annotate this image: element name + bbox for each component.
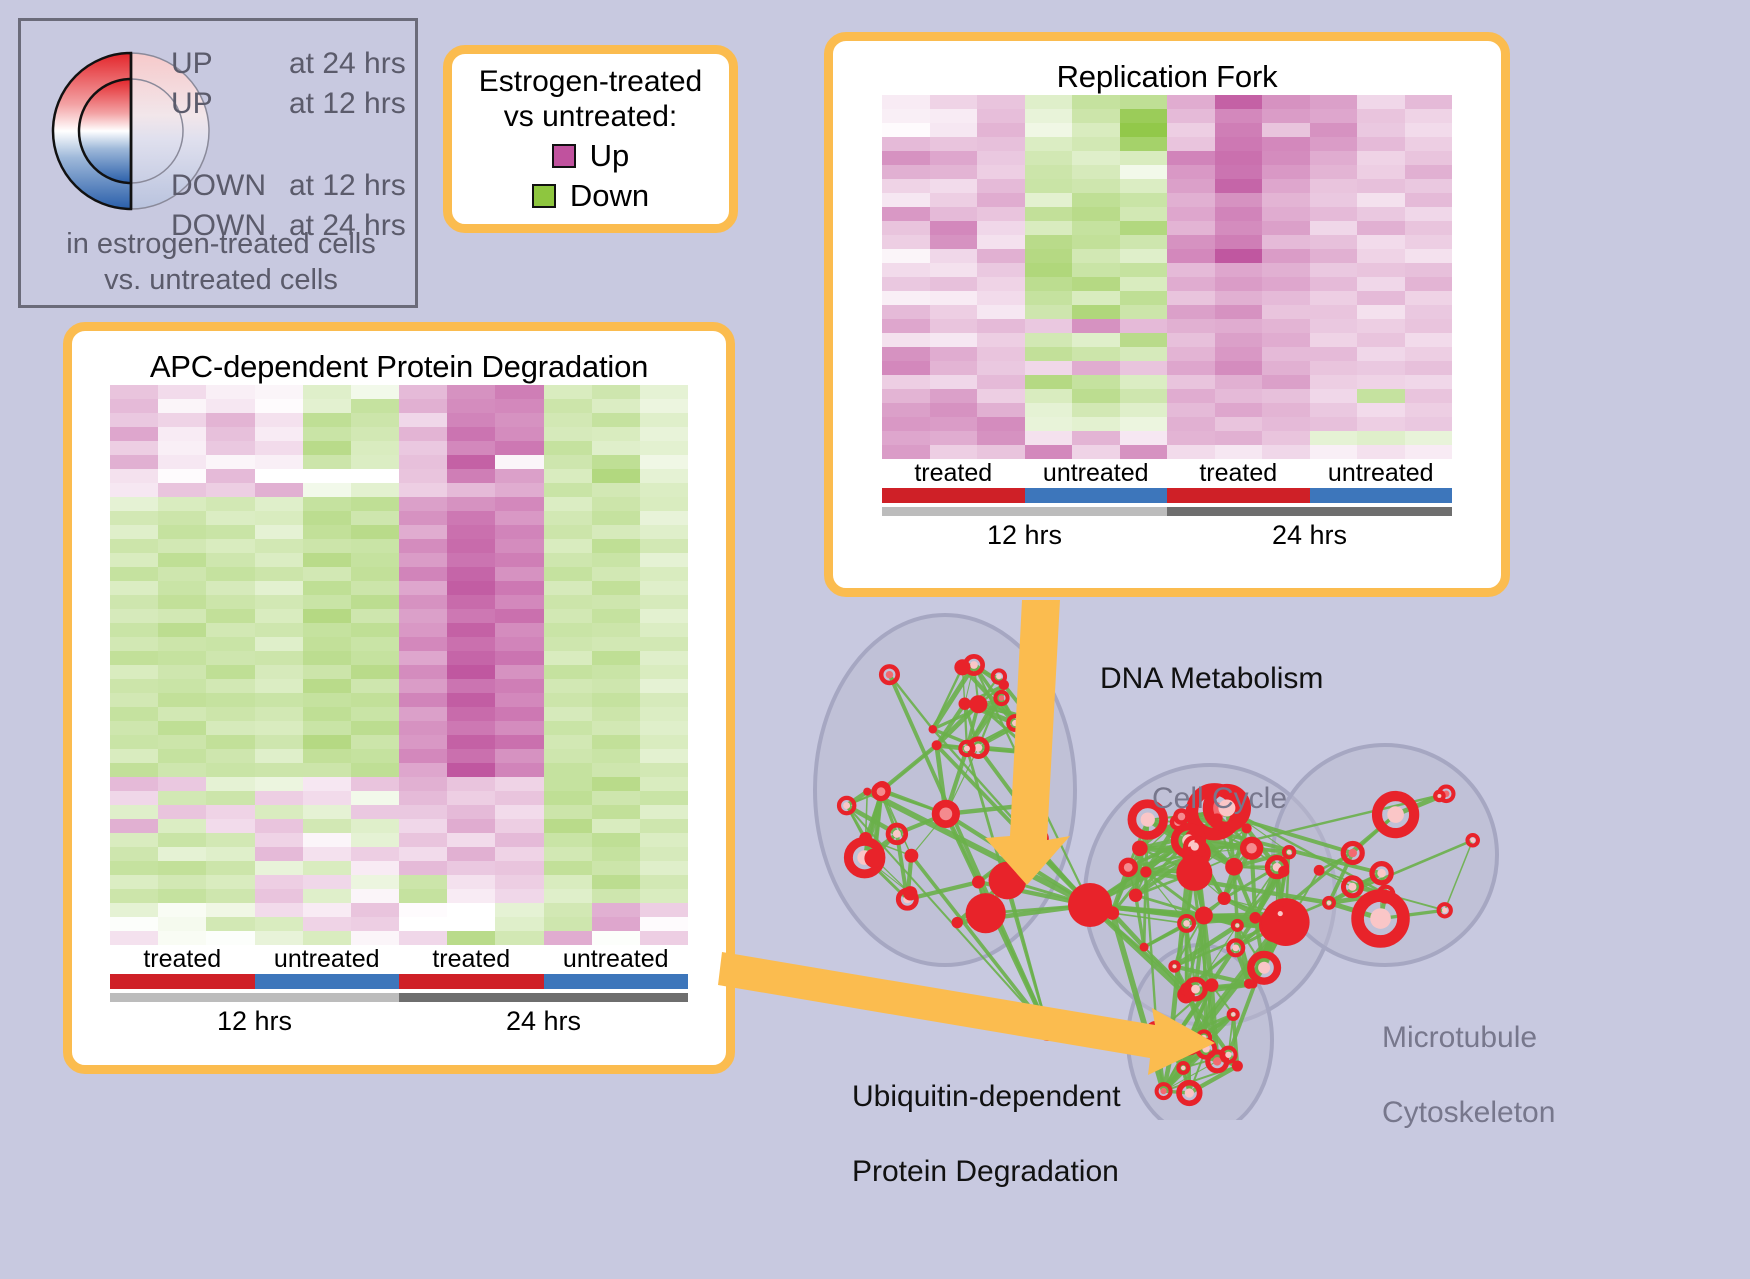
heatmap-cell <box>110 525 158 539</box>
heatmap-cell <box>447 847 495 861</box>
heatmap-cell <box>447 665 495 679</box>
heatmap-cell <box>110 735 158 749</box>
network-node <box>1195 907 1213 925</box>
heatmap-cell <box>303 819 351 833</box>
heatmap-cell <box>206 637 254 651</box>
heatmap-cell <box>640 889 688 903</box>
heatmap-cell <box>255 623 303 637</box>
heatmap-cell <box>351 819 399 833</box>
heatmap-cell <box>303 889 351 903</box>
heatmap-cell <box>544 805 592 819</box>
heatmap-cell <box>1167 193 1215 207</box>
heatmap-cell <box>1310 151 1358 165</box>
heatmap-cell <box>495 581 543 595</box>
heatmap-cell <box>1405 95 1453 109</box>
heatmap-cell <box>1262 249 1310 263</box>
heatmap-cell <box>544 469 592 483</box>
heatmap-cell <box>544 567 592 581</box>
heatmap-cell <box>351 833 399 847</box>
heatmap-cell <box>882 291 930 305</box>
heatmap-cell <box>351 469 399 483</box>
heatmap-cell <box>351 693 399 707</box>
heatmap-cell <box>303 441 351 455</box>
heatmap-cell <box>1405 431 1453 445</box>
heatmap-cell <box>303 791 351 805</box>
heatmap-cell <box>447 427 495 441</box>
network-node <box>1176 855 1212 891</box>
network-node-core <box>1012 720 1018 726</box>
network-node <box>959 698 971 710</box>
heatmap-cell <box>1310 109 1358 123</box>
heatmap-cell <box>303 903 351 917</box>
heatmap-cell <box>158 469 206 483</box>
heatmap-cell <box>303 805 351 819</box>
heatmap-cell <box>1120 333 1168 347</box>
heatmap-cell <box>351 721 399 735</box>
heatmap-cell <box>399 455 447 469</box>
heatmap-cell <box>495 609 543 623</box>
heatmap-cell <box>640 455 688 469</box>
heatmap-cell <box>882 249 930 263</box>
heatmap-cell <box>544 889 592 903</box>
heatmap-cell <box>1215 389 1263 403</box>
heatmap-cell <box>1167 249 1215 263</box>
heatmap-cell <box>930 431 978 445</box>
heatmap-cell <box>447 875 495 889</box>
heatmap-cell <box>1262 319 1310 333</box>
network-node-core <box>1442 908 1448 914</box>
heatmap-cell <box>1357 319 1405 333</box>
heatmap-cell <box>1215 375 1263 389</box>
heatmap-cell <box>640 917 688 931</box>
heatmap-cell <box>1215 123 1263 137</box>
heatmap-cell <box>110 511 158 525</box>
heatmap-cell <box>351 777 399 791</box>
heatmap-cell <box>495 931 543 945</box>
network-node-core <box>1027 715 1035 723</box>
heatmap-cell <box>592 721 640 735</box>
heatmap-cell <box>1120 249 1168 263</box>
group-label: untreated <box>1310 459 1453 488</box>
heatmap-cell <box>351 413 399 427</box>
heatmap-cell <box>206 469 254 483</box>
heatmap-cell <box>1357 165 1405 179</box>
heatmap-cell <box>158 917 206 931</box>
heatmap-cell <box>1120 431 1168 445</box>
heatmap-cell <box>1405 263 1453 277</box>
heatmap-cell <box>206 819 254 833</box>
heatmap-cell <box>303 595 351 609</box>
heatmap-cell <box>592 833 640 847</box>
heatmap-cell <box>544 637 592 651</box>
heatmap-cell <box>255 707 303 721</box>
heatmap-cell <box>592 763 640 777</box>
heatmap-cell <box>592 623 640 637</box>
heatmap-cell <box>882 431 930 445</box>
heatmap-cell <box>544 553 592 567</box>
heatmap-cell <box>351 483 399 497</box>
heatmap-cell <box>1215 333 1263 347</box>
heatmap-cell <box>110 931 158 945</box>
network-node <box>1244 979 1254 989</box>
heatmap-cell <box>592 609 640 623</box>
heatmap-cell <box>110 455 158 469</box>
heatmap-cell <box>882 179 930 193</box>
heatmap-cell <box>206 693 254 707</box>
heatmap-cell <box>1405 109 1453 123</box>
heatmap-cell <box>110 679 158 693</box>
heatmap-cell <box>447 819 495 833</box>
heatmap-cell <box>1120 151 1168 165</box>
heatmap-cell <box>110 399 158 413</box>
heatmap-cell <box>544 693 592 707</box>
heatmap-cell <box>1167 389 1215 403</box>
heatmap-cell <box>110 875 158 889</box>
heatmap-cell <box>158 483 206 497</box>
heatmap-cell <box>158 889 206 903</box>
heatmap-cell <box>110 427 158 441</box>
heatmap-cell <box>1357 95 1405 109</box>
heatmap-cell <box>206 861 254 875</box>
heatmap-cell <box>1310 277 1358 291</box>
condition-segment <box>399 974 544 989</box>
heatmap-cell <box>303 427 351 441</box>
heatmap-cell <box>1262 207 1310 221</box>
heatmap-cell <box>1025 95 1073 109</box>
heatmap-cell <box>882 445 930 459</box>
heatmap-cell <box>206 805 254 819</box>
heatmap-cell <box>447 553 495 567</box>
heatmap-cell <box>303 525 351 539</box>
heatmap-cell <box>930 347 978 361</box>
heatmap-cell <box>110 637 158 651</box>
heatmap-cell <box>495 889 543 903</box>
heatmap-cell <box>592 497 640 511</box>
heatmap-cell <box>1072 123 1120 137</box>
heatmap-cell <box>351 679 399 693</box>
heatmap-cell <box>158 497 206 511</box>
heatmap-cell <box>592 805 640 819</box>
group-label: treated <box>882 459 1025 488</box>
heatmap-cell <box>1262 277 1310 291</box>
heatmap-cell <box>640 679 688 693</box>
time-labels-apc: 12 hrs24 hrs <box>110 1002 688 1037</box>
heatmap-cell <box>303 413 351 427</box>
heatmap-cell <box>1072 403 1120 417</box>
heatmap-cell <box>1215 431 1263 445</box>
heatmap-cell <box>206 399 254 413</box>
heatmap-cell <box>351 441 399 455</box>
network-node-core <box>996 674 1002 680</box>
heatmap-cell <box>447 763 495 777</box>
heatmap-cell <box>206 427 254 441</box>
heatmap-cell <box>495 917 543 931</box>
heatmap-cell <box>158 441 206 455</box>
heatmap-cell <box>882 375 930 389</box>
heatmap-cell <box>977 305 1025 319</box>
heatmap-cell <box>1215 109 1263 123</box>
heatmap-cell <box>158 637 206 651</box>
heatmap-cell <box>544 413 592 427</box>
network-node-core <box>893 830 901 838</box>
heatmap-cell <box>158 595 206 609</box>
heatmap-cell <box>592 637 640 651</box>
heatmap-cell <box>592 903 640 917</box>
heatmap-cell <box>495 427 543 441</box>
heatmap-cell <box>158 385 206 399</box>
heatmap-cell <box>1215 277 1263 291</box>
heatmap-cell <box>882 165 930 179</box>
heatmap-cell <box>1120 389 1168 403</box>
heatmap-cell <box>640 819 688 833</box>
legend-title-line-2: vs untreated: <box>504 99 677 134</box>
heatmap-cell <box>930 137 978 151</box>
heatmap-cell <box>158 805 206 819</box>
heatmap-cell <box>158 903 206 917</box>
heatmap-cell <box>977 375 1025 389</box>
heatmap-cell <box>1357 151 1405 165</box>
heatmap-cell <box>1215 179 1263 193</box>
heatmap-cell <box>447 651 495 665</box>
group-label: untreated <box>255 945 400 974</box>
heatmap-cell <box>158 847 206 861</box>
heatmap-cell <box>1120 347 1168 361</box>
heatmap-cell <box>447 609 495 623</box>
heatmap-cell <box>977 165 1025 179</box>
heatmap-cell <box>1072 347 1120 361</box>
heatmap-cell <box>158 553 206 567</box>
color-wheel-caption: in estrogen-treated cells vs. untreated … <box>21 226 421 299</box>
heatmap-cell <box>640 931 688 945</box>
heatmap-cell <box>1120 109 1168 123</box>
network-node <box>972 876 985 889</box>
heatmap-cell <box>351 651 399 665</box>
heatmap-cell <box>447 497 495 511</box>
heatmap-cell <box>206 847 254 861</box>
heatmap-cell <box>447 889 495 903</box>
heatmap-cell <box>495 595 543 609</box>
heatmap-cell <box>447 679 495 693</box>
heatmap-cell <box>1025 277 1073 291</box>
time-label: 24 hrs <box>399 1006 688 1037</box>
heatmap-cell <box>1120 207 1168 221</box>
heatmap-cell <box>930 319 978 333</box>
legend-item-up: Up <box>552 138 630 174</box>
heatmap-cell <box>158 609 206 623</box>
heatmap-cell <box>158 413 206 427</box>
heatmap-cell <box>930 123 978 137</box>
heatmap-cell <box>1120 235 1168 249</box>
heatmap-cell <box>1072 221 1120 235</box>
heatmap-cell <box>1357 445 1405 459</box>
heatmap-cell <box>495 539 543 553</box>
network-node-core <box>1185 1088 1194 1097</box>
heatmap-cell <box>158 665 206 679</box>
heatmap-cell <box>1025 347 1073 361</box>
heatmap-cell <box>1357 431 1405 445</box>
heatmap-cell <box>399 469 447 483</box>
heatmap-cell <box>303 917 351 931</box>
heatmap-cell <box>592 819 640 833</box>
heatmap-cell <box>206 553 254 567</box>
heatmap-cell <box>206 679 254 693</box>
heatmap-cell <box>930 109 978 123</box>
heatmap-cell <box>1357 207 1405 221</box>
heatmap-cell <box>495 525 543 539</box>
heatmap-cell <box>640 735 688 749</box>
heatmap-cell <box>1167 123 1215 137</box>
heatmap-cell <box>206 903 254 917</box>
heatmap-cell <box>1120 403 1168 417</box>
heatmap-cell <box>495 679 543 693</box>
heatmap-cell <box>158 791 206 805</box>
heatmap-cell <box>1310 403 1358 417</box>
heatmap-cell <box>1167 361 1215 375</box>
heatmap-cell <box>110 833 158 847</box>
condition-segment <box>1167 488 1310 503</box>
down-swatch-icon <box>532 184 556 208</box>
heatmap-cell <box>351 861 399 875</box>
heatmap-cell <box>1405 389 1453 403</box>
heatmap-cell <box>447 581 495 595</box>
heatmap-cell <box>1262 333 1310 347</box>
heatmap-cell <box>495 399 543 413</box>
network-node-core <box>1370 908 1391 929</box>
heatmap-cell <box>303 875 351 889</box>
heatmap-cell <box>1120 361 1168 375</box>
cluster-label-ubiquitin-degradation: Ubiquitin-dependent Protein Degradation <box>852 1040 1121 1228</box>
heatmap-cell <box>544 903 592 917</box>
heatmap-cell <box>1310 417 1358 431</box>
network-node <box>1132 841 1148 857</box>
heatmap-cell <box>110 567 158 581</box>
heatmap-cell <box>977 207 1025 221</box>
heatmap-cell <box>110 553 158 567</box>
heatmap-cell <box>495 441 543 455</box>
heatmap-cell <box>351 707 399 721</box>
heatmap-cell <box>1262 95 1310 109</box>
heatmap-cell <box>255 847 303 861</box>
heatmap-cell <box>1405 151 1453 165</box>
network-node-core <box>1377 869 1386 878</box>
heatmap-cell <box>1405 249 1453 263</box>
heatmap-cell <box>495 777 543 791</box>
heatmap-cell <box>495 567 543 581</box>
network-node <box>1218 892 1231 905</box>
heatmap-cell <box>495 623 543 637</box>
heatmap-cell <box>447 833 495 847</box>
heatmap-cell <box>592 875 640 889</box>
heatmap-cell <box>882 207 930 221</box>
heatmap-cell <box>399 679 447 693</box>
heatmap-cell <box>544 595 592 609</box>
heatmap-cell <box>1167 165 1215 179</box>
network-node-core <box>1348 883 1356 891</box>
heatmap-cell <box>1405 305 1453 319</box>
heatmap-cell <box>206 763 254 777</box>
heatmap-cell <box>1262 263 1310 277</box>
heatmap-cell <box>592 735 640 749</box>
up-swatch-icon <box>552 144 576 168</box>
heatmap-cell <box>255 721 303 735</box>
heatmap-cell <box>447 385 495 399</box>
ub-line-2: Protein Degradation <box>852 1153 1121 1191</box>
heatmap-cell <box>399 707 447 721</box>
heatmap-cell <box>495 791 543 805</box>
heatmap-cell <box>158 735 206 749</box>
heatmap-cell <box>1357 109 1405 123</box>
heatmap-cell <box>592 693 640 707</box>
heatmap-cell <box>1025 235 1073 249</box>
heatmap-cell <box>1215 137 1263 151</box>
caption-line-1: in estrogen-treated cells <box>21 226 421 262</box>
heatmap-cell <box>399 595 447 609</box>
heatmap-cell <box>1262 123 1310 137</box>
heatmap-cell <box>447 749 495 763</box>
heatmap-cell <box>544 917 592 931</box>
group-labels-apc: treateduntreatedtreateduntreated <box>110 945 688 974</box>
heatmap-cell <box>977 319 1025 333</box>
heatmap-cell <box>1025 333 1073 347</box>
heatmap-cell <box>206 497 254 511</box>
heatmap-cell <box>447 623 495 637</box>
network-node <box>1262 898 1310 946</box>
heatmap-cell <box>1262 291 1310 305</box>
heatmap-cell <box>1405 361 1453 375</box>
heatmap-cell <box>303 665 351 679</box>
heatmap-cell <box>1025 445 1073 459</box>
heatmap-cell <box>1025 249 1073 263</box>
heatmap-cell <box>882 221 930 235</box>
heatmap-cell <box>206 609 254 623</box>
time-label: 12 hrs <box>110 1006 399 1037</box>
heatmap-cell <box>447 455 495 469</box>
group-label: untreated <box>544 945 689 974</box>
heatmap-cell <box>351 917 399 931</box>
heatmap-cell <box>1215 305 1263 319</box>
panel-title: APC-dependent Protein Degradation <box>72 349 726 385</box>
heatmap-cell <box>640 651 688 665</box>
heatmap-cell <box>399 847 447 861</box>
heatmap-cell <box>110 777 158 791</box>
heatmap-cell <box>1215 445 1263 459</box>
heatmap-cell <box>882 151 930 165</box>
heatmap-cell <box>495 819 543 833</box>
heatmap-cell <box>930 361 978 375</box>
figure-canvas: UP at 24 hrs UP at 12 hrs DOWN at 12 hrs… <box>0 0 1750 1279</box>
heatmap-cell <box>544 455 592 469</box>
heatmap-cell <box>495 483 543 497</box>
heatmap-cell <box>158 931 206 945</box>
heatmap-cell <box>399 581 447 595</box>
heatmap-cell <box>640 511 688 525</box>
heatmap-cell <box>1120 319 1168 333</box>
network-node <box>1225 858 1243 876</box>
condition-segment <box>110 974 255 989</box>
time-bar-apc <box>110 993 688 1002</box>
heatmap-cell <box>1072 137 1120 151</box>
heatmap-cell <box>255 819 303 833</box>
heatmap-cell <box>592 427 640 441</box>
network-node-core <box>1387 806 1404 823</box>
up-down-legend-card: Estrogen-treated vs untreated: Up Down <box>443 45 738 233</box>
heatmap-cell <box>447 735 495 749</box>
heatmap-cell <box>351 553 399 567</box>
heatmap-cell <box>592 651 640 665</box>
heatmap-cell <box>977 235 1025 249</box>
heatmap-cell <box>1120 445 1168 459</box>
condition-bar-apc <box>110 974 688 989</box>
